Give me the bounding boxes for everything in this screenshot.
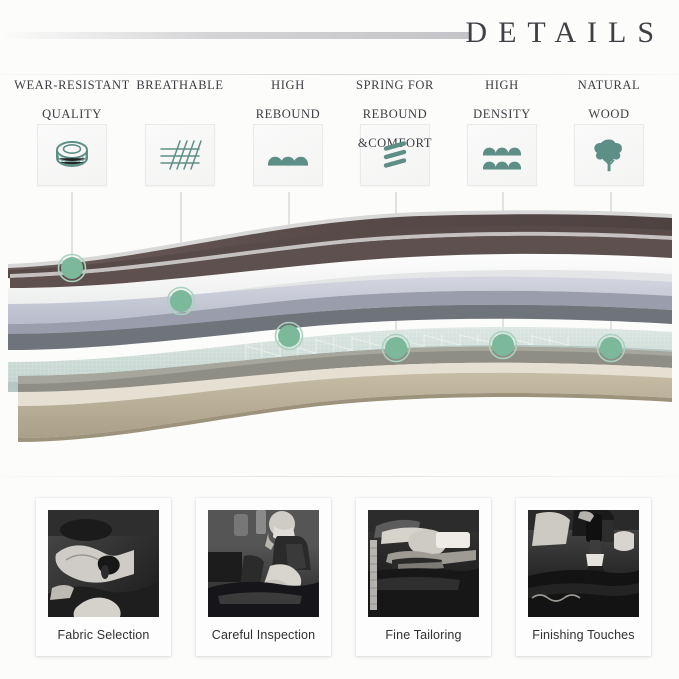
- marker-spring[interactable]: [383, 335, 410, 362]
- feature-natural-wood[interactable]: NATURAL WOOD: [551, 78, 667, 186]
- card-caption: Finishing Touches: [532, 628, 634, 642]
- header-rule-bar: [0, 32, 470, 39]
- textured-cylinder-icon: [51, 137, 93, 173]
- feature-breathable[interactable]: BREATHABLE: [122, 78, 238, 186]
- feature-high-density[interactable]: HIGH DENSITY: [444, 78, 560, 186]
- feature-label-line: SPRING FOR: [356, 78, 434, 93]
- feature-label-line: REBOUND: [256, 107, 321, 122]
- feature-label: WEAR-RESISTANT QUALITY: [14, 78, 130, 124]
- process-card-row: Fabric Selection: [0, 498, 679, 666]
- feature-label: HIGH DENSITY: [444, 78, 560, 124]
- feature-label-line: BREATHABLE: [136, 78, 223, 93]
- marker-high-rebound[interactable]: [276, 323, 303, 350]
- tree-icon: [591, 137, 627, 173]
- hands-selecting-fabric-photo: [48, 510, 159, 617]
- feature-label-line: QUALITY: [14, 107, 130, 122]
- feature-high-rebound[interactable]: HIGH REBOUND: [230, 78, 346, 186]
- icon-box[interactable]: [467, 124, 537, 186]
- card-caption: Fine Tailoring: [385, 628, 461, 642]
- icon-box[interactable]: [574, 124, 644, 186]
- icon-box[interactable]: [145, 124, 215, 186]
- feature-label-line: DENSITY: [473, 107, 531, 122]
- icon-box[interactable]: [253, 124, 323, 186]
- feature-label-line: NATURAL: [578, 78, 641, 93]
- feature-label-line: REBOUND: [356, 107, 434, 122]
- feature-label: SPRING FOR REBOUND &COMFORT: [337, 78, 453, 124]
- icon-box[interactable]: [37, 124, 107, 186]
- sewing-machine-photo: [528, 510, 639, 617]
- double-arches-icon: [480, 138, 524, 172]
- feature-spring-rebound-comfort[interactable]: SPRING FOR REBOUND &COMFORT: [337, 78, 453, 186]
- spring-coil-icon: [378, 138, 412, 172]
- card-finishing-touches[interactable]: Finishing Touches: [516, 498, 651, 656]
- marker-breathable[interactable]: [168, 288, 195, 315]
- hands-cutting-leather-photo: [368, 510, 479, 617]
- card-fabric-selection[interactable]: Fabric Selection: [36, 498, 171, 656]
- marker-high-density[interactable]: [490, 332, 517, 359]
- feature-label-line: WOOD: [578, 107, 641, 122]
- feature-label-line: WEAR-RESISTANT: [14, 78, 130, 93]
- mattress-layer-diagram: [0, 192, 679, 472]
- feature-label: BREATHABLE: [122, 78, 238, 124]
- card-caption: Fabric Selection: [57, 628, 149, 642]
- mesh-grid-icon: [158, 138, 202, 172]
- card-careful-inspection[interactable]: Careful Inspection: [196, 498, 331, 656]
- header-divider: [0, 74, 679, 75]
- page-title: DETAILS: [465, 16, 665, 50]
- section-divider: [0, 476, 679, 477]
- card-caption: Careful Inspection: [212, 628, 315, 642]
- card-fine-tailoring[interactable]: Fine Tailoring: [356, 498, 491, 656]
- feature-row: WEAR-RESISTANT QUALITY: [0, 78, 679, 196]
- feature-label-line: HIGH: [256, 78, 321, 93]
- worker-inspecting-leather-photo: [208, 510, 319, 617]
- feature-wear-resistant-quality[interactable]: WEAR-RESISTANT QUALITY: [14, 78, 130, 186]
- page-header: DETAILS: [0, 0, 679, 80]
- marker-natural-wood[interactable]: [598, 335, 625, 362]
- feature-label: HIGH REBOUND: [230, 78, 346, 124]
- feature-label-line: HIGH: [473, 78, 531, 93]
- arches-icon: [266, 143, 310, 167]
- feature-label: NATURAL WOOD: [551, 78, 667, 124]
- marker-wear-resistant[interactable]: [59, 255, 86, 282]
- details-page: DETAILS WEAR-RESISTANT QUALITY: [0, 0, 679, 679]
